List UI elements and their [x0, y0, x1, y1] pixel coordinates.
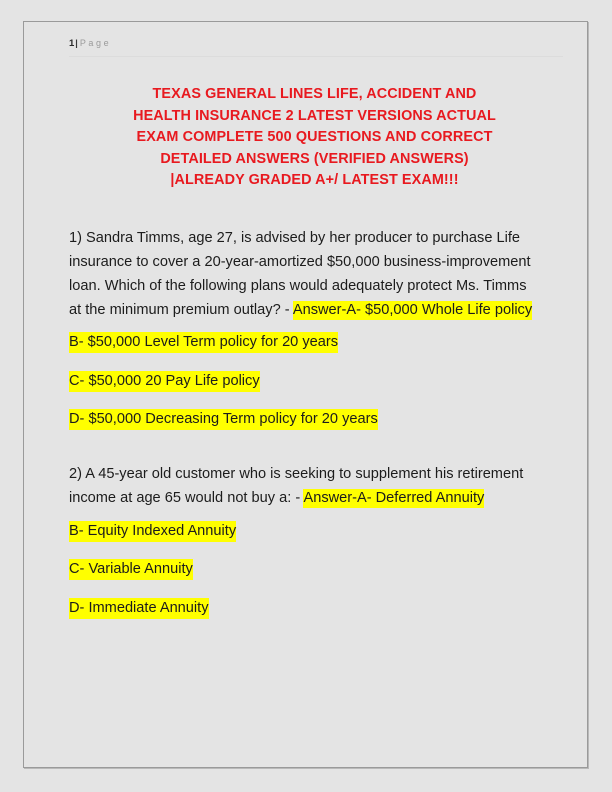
option-highlight: C- $50,000 20 Pay Life policy — [69, 371, 260, 392]
option-highlight: D- Immediate Annuity — [69, 598, 209, 619]
question-stem: 2) A 45-year old customer who is seeking… — [69, 462, 539, 510]
page-number: 1 — [69, 38, 74, 49]
option-line: D- $50,000 Decreasing Term policy for 20… — [69, 407, 563, 431]
page-content: 1|Page TEXAS GENERAL LINES LIFE, ACCIDEN… — [24, 22, 587, 767]
question-block: 1) Sandra Timms, age 27, is advised by h… — [69, 226, 563, 432]
option-highlight: B- $50,000 Level Term policy for 20 year… — [69, 332, 338, 353]
questions-area: 1) Sandra Timms, age 27, is advised by h… — [69, 226, 563, 621]
title-line: EXAM COMPLETE 500 QUESTIONS AND CORRECT — [75, 127, 554, 149]
option-line: D- Immediate Annuity — [69, 596, 563, 620]
document-page: 1|Page TEXAS GENERAL LINES LIFE, ACCIDEN… — [23, 21, 588, 768]
title-line: TEXAS GENERAL LINES LIFE, ACCIDENT AND — [75, 84, 554, 106]
page-word-label: Page — [80, 38, 111, 48]
option-highlight: B- Equity Indexed Annuity — [69, 521, 236, 542]
answer-highlight: Answer-A- Deferred Annuity — [303, 489, 484, 508]
title-line: |ALREADY GRADED A+/ LATEST EXAM!!! — [75, 170, 554, 192]
running-header: 1|Page — [69, 36, 563, 57]
option-line: C- Variable Annuity — [69, 557, 563, 581]
option-highlight: C- Variable Annuity — [69, 559, 193, 580]
title-line: DETAILED ANSWERS (VERIFIED ANSWERS) — [75, 149, 554, 171]
question-stem: 1) Sandra Timms, age 27, is advised by h… — [69, 226, 539, 322]
answer-highlight: Answer-A- $50,000 Whole Life policy — [293, 301, 532, 320]
title-line: HEALTH INSURANCE 2 LATEST VERSIONS ACTUA… — [75, 106, 554, 128]
option-highlight: D- $50,000 Decreasing Term policy for 20… — [69, 409, 378, 430]
question-block: 2) A 45-year old customer who is seeking… — [69, 462, 563, 620]
header-separator: | — [75, 38, 78, 48]
document-title: TEXAS GENERAL LINES LIFE, ACCIDENT AND H… — [75, 84, 554, 192]
option-line: B- $50,000 Level Term policy for 20 year… — [69, 330, 563, 354]
option-line: B- Equity Indexed Annuity — [69, 519, 563, 543]
option-line: C- $50,000 20 Pay Life policy — [69, 369, 563, 393]
